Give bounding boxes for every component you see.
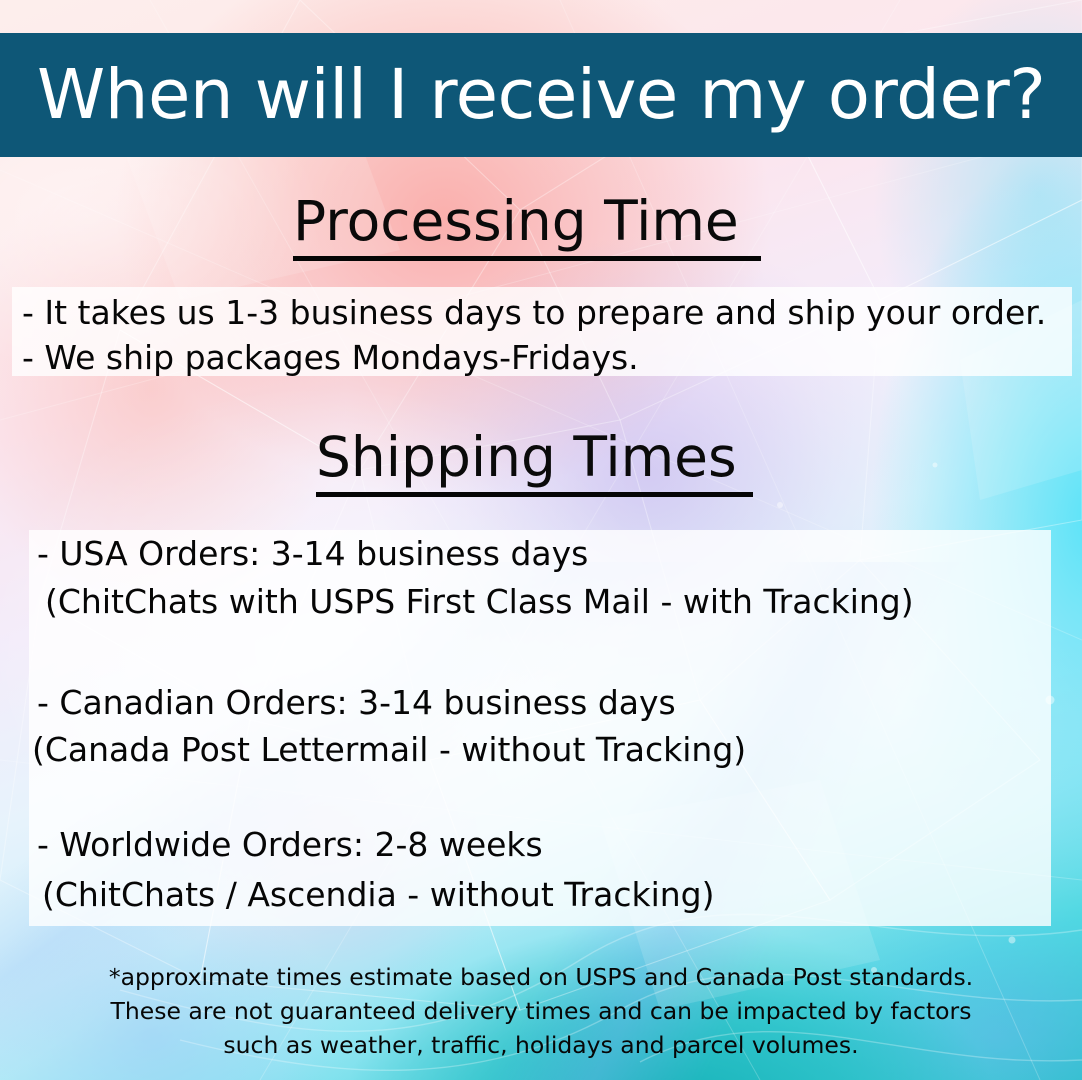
section-heading-shipping-times: Shipping Times bbox=[316, 430, 753, 497]
disclaimer-line-2: These are not guaranteed delivery times … bbox=[0, 994, 1082, 1028]
section-heading-shipping-times-label: Shipping Times bbox=[316, 425, 737, 489]
disclaimer-line-1: *approximate times estimate based on USP… bbox=[0, 960, 1082, 994]
shipping-usa-line-2: (ChitChats with USPS First Class Mail - … bbox=[45, 585, 914, 618]
shipping-canada-line-1: - Canadian Orders: 3-14 business days bbox=[37, 686, 676, 719]
section-heading-underline bbox=[293, 256, 761, 261]
title-banner: When will I receive my order? bbox=[0, 33, 1082, 157]
disclaimer-line-3: such as weather, traffic, holidays and p… bbox=[0, 1028, 1082, 1062]
page-title: When will I receive my order? bbox=[0, 61, 1045, 130]
shipping-worldwide-line-1: - Worldwide Orders: 2-8 weeks bbox=[37, 828, 543, 861]
processing-time-line-2: - We ship packages Mondays-Fridays. bbox=[22, 341, 639, 374]
shipping-usa-line-1: - USA Orders: 3-14 business days bbox=[37, 537, 588, 570]
section-heading-processing-time: Processing Time bbox=[293, 194, 761, 261]
shipping-policy-infographic: When will I receive my order? Processing… bbox=[0, 0, 1082, 1080]
section-heading-underline bbox=[316, 492, 753, 497]
processing-time-line-1: - It takes us 1-3 business days to prepa… bbox=[22, 296, 1046, 329]
section-heading-processing-time-label: Processing Time bbox=[293, 189, 739, 253]
shipping-canada-line-2: (Canada Post Lettermail - without Tracki… bbox=[32, 733, 746, 766]
shipping-worldwide-line-2: (ChitChats / Ascendia - without Tracking… bbox=[42, 878, 715, 911]
disclaimer-text: *approximate times estimate based on USP… bbox=[0, 960, 1082, 1062]
